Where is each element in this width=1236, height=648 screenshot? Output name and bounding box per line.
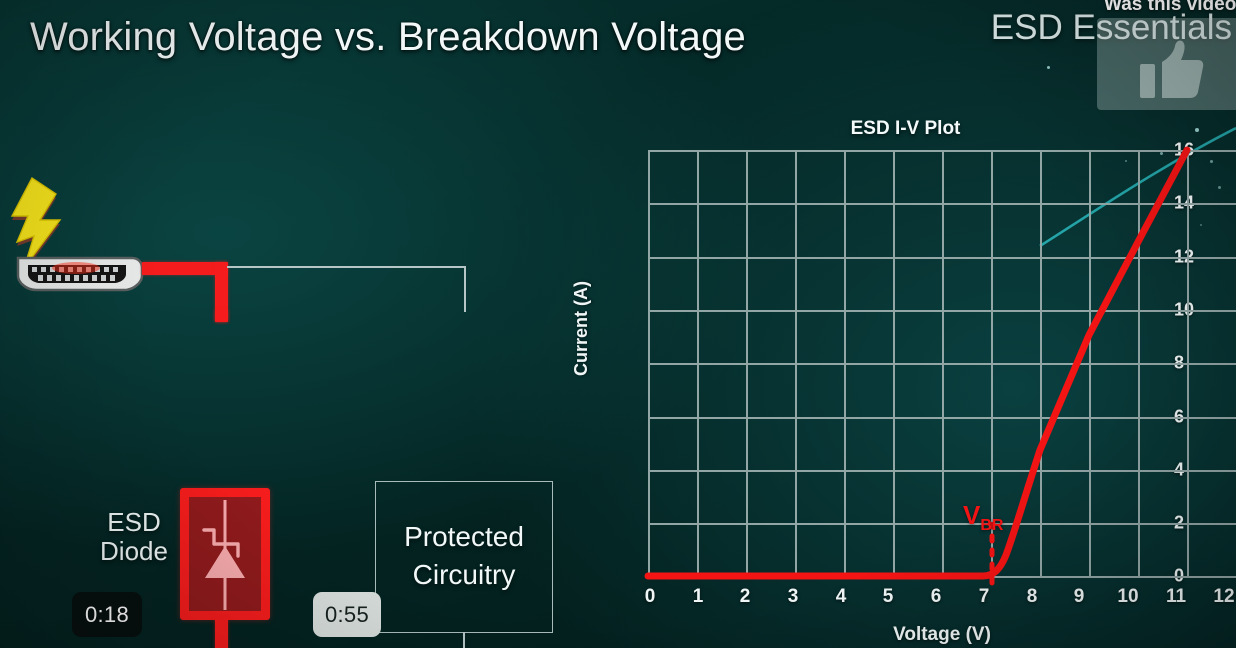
- vbr-label: VBR: [963, 500, 1003, 535]
- protected-circuitry-label: Protected Circuitry: [375, 518, 553, 594]
- tvs-diode-icon: [192, 500, 258, 610]
- page-title: Working Voltage vs. Breakdown Voltage: [30, 15, 746, 60]
- protected-ground-lead: [463, 632, 465, 648]
- chart-plot-area: [648, 150, 1236, 576]
- chart-title: ESD I-V Plot: [575, 118, 1236, 140]
- esd-iv-chart: ESD I-V Plot Current (A) Voltage (V) 16 …: [575, 108, 1236, 648]
- esd-diode-label-line1: ESD: [88, 508, 180, 537]
- circuit-diagram: ESD Diode Protected Circuitry: [0, 170, 600, 550]
- x-tick-label: 12: [1213, 586, 1234, 608]
- elapsed-time-badge[interactable]: 0:18: [72, 592, 142, 637]
- chart-xlabel: Voltage (V): [648, 624, 1236, 646]
- x-tick-label: 0: [645, 586, 656, 608]
- protected-label-line1: Protected: [375, 518, 553, 556]
- like-prompt-text: Was this video: [1104, 0, 1236, 16]
- esd-diode-label-line2: Diode: [88, 537, 180, 566]
- chart-ylabel: Current (A): [571, 281, 592, 376]
- x-tick-label: 5: [883, 586, 894, 608]
- esd-diode-top-lead: [215, 310, 228, 322]
- duration-time-badge[interactable]: 0:55: [313, 592, 381, 637]
- vbr-label-text: V: [963, 500, 980, 530]
- hdmi-connector-icon: [14, 254, 146, 294]
- x-tick-label: 9: [1074, 586, 1085, 608]
- video-frame: Working Voltage vs. Breakdown Voltage ES…: [0, 0, 1236, 648]
- signal-wire-horizontal: [227, 266, 466, 268]
- x-tick-label: 2: [740, 586, 751, 608]
- iv-curve: [648, 150, 1236, 578]
- esd-diode-bottom-lead: [215, 618, 228, 648]
- x-tick-label: 8: [1027, 586, 1038, 608]
- x-tick-label: 6: [931, 586, 942, 608]
- thumbs-up-icon[interactable]: [1140, 38, 1204, 100]
- esd-diode-label: ESD Diode: [88, 508, 180, 566]
- x-tick-label: 4: [836, 586, 847, 608]
- x-tick-label: 11: [1166, 586, 1186, 608]
- x-tick-label: 3: [788, 586, 799, 608]
- x-tick-label: 1: [693, 586, 704, 608]
- vbr-label-subscript: BR: [980, 517, 1003, 534]
- sparkle-icon: [1047, 66, 1050, 69]
- x-tick-label: 10: [1117, 586, 1138, 608]
- signal-wire-vertical: [464, 266, 466, 312]
- protected-label-line2: Circuitry: [375, 556, 553, 594]
